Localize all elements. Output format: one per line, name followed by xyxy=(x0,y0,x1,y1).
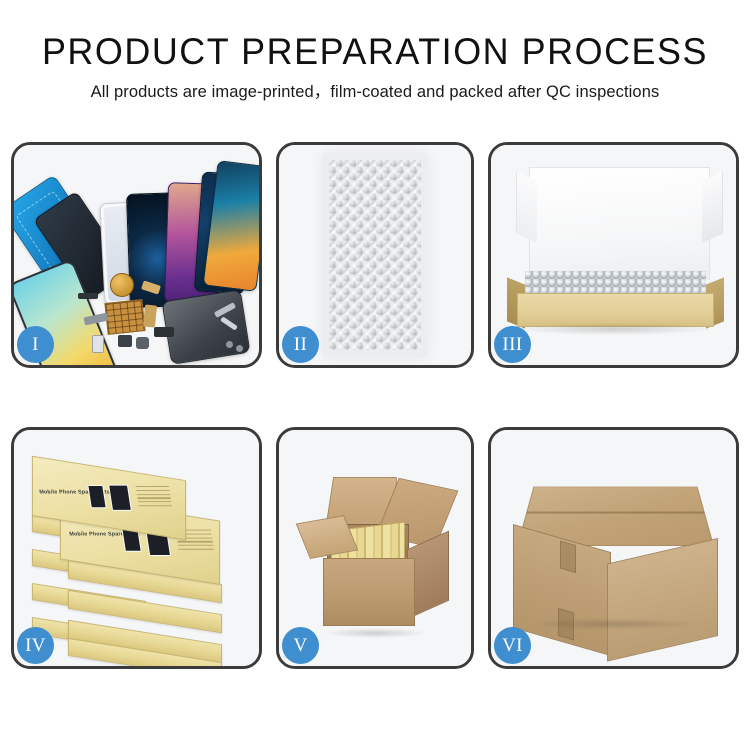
carton-right-face xyxy=(607,538,718,662)
spare-part-graphic xyxy=(143,304,157,327)
step-badge-3: III xyxy=(494,326,531,363)
bubble-pattern xyxy=(329,160,421,350)
white-inner-box-graphic xyxy=(513,167,718,313)
tape-mark xyxy=(560,540,576,573)
box-stack-graphic: Mobile Phone Spare Parts Mobile Phone Sp… xyxy=(30,454,245,650)
gold-connector-graphic xyxy=(110,273,134,297)
box-spec-lines xyxy=(135,486,172,509)
step-panel-3[interactable]: III xyxy=(488,142,739,368)
box-front-panel xyxy=(517,293,714,327)
step-badge-4: IV xyxy=(17,627,54,664)
step-panel-2[interactable]: II xyxy=(276,142,474,368)
step-3-image xyxy=(491,145,736,365)
spare-part-graphic xyxy=(136,337,149,349)
drop-shadow xyxy=(516,323,712,335)
spare-part-graphic xyxy=(92,335,104,353)
box-screen-image xyxy=(108,485,132,511)
spare-part-graphic xyxy=(226,341,233,348)
step-1-image xyxy=(14,145,259,365)
page-title: PRODUCT PREPARATION PROCESS xyxy=(11,30,739,74)
step-panel-6[interactable]: VI xyxy=(488,427,739,669)
step-4-image: Mobile Phone Spare Parts Mobile Phone Sp… xyxy=(14,430,259,666)
spare-part-graphic xyxy=(154,327,174,337)
spare-part-graphic xyxy=(78,293,98,299)
process-steps-grid: I II III xyxy=(11,142,739,669)
drop-shadow xyxy=(325,628,426,638)
step-panel-1[interactable]: I xyxy=(11,142,262,368)
step-badge-2: II xyxy=(282,326,319,363)
page-header: PRODUCT PREPARATION PROCESS All products… xyxy=(0,0,750,104)
box-lid xyxy=(529,167,710,280)
spare-part-graphic xyxy=(118,335,132,347)
carton-seam xyxy=(527,511,704,513)
sealed-carton-graphic xyxy=(511,460,720,636)
box-screen-image xyxy=(87,485,106,508)
step-badge-6: VI xyxy=(494,627,531,664)
step-panel-5[interactable]: V xyxy=(276,427,474,669)
chip-array-graphic xyxy=(104,299,145,335)
step-badge-1: I xyxy=(17,326,54,363)
open-carton-graphic xyxy=(305,462,449,640)
carton-front-panel xyxy=(323,558,415,626)
step-panel-4[interactable]: Mobile Phone Spare Parts Mobile Phone Sp… xyxy=(11,427,262,669)
step-badge-5: V xyxy=(282,627,319,664)
bubble-wrap-pouch-graphic xyxy=(323,153,427,357)
drop-shadow xyxy=(532,618,699,630)
step-6-image xyxy=(491,430,736,666)
page-subtitle: All products are image-printed，film-coat… xyxy=(0,80,750,104)
spare-part-graphic xyxy=(236,345,243,352)
